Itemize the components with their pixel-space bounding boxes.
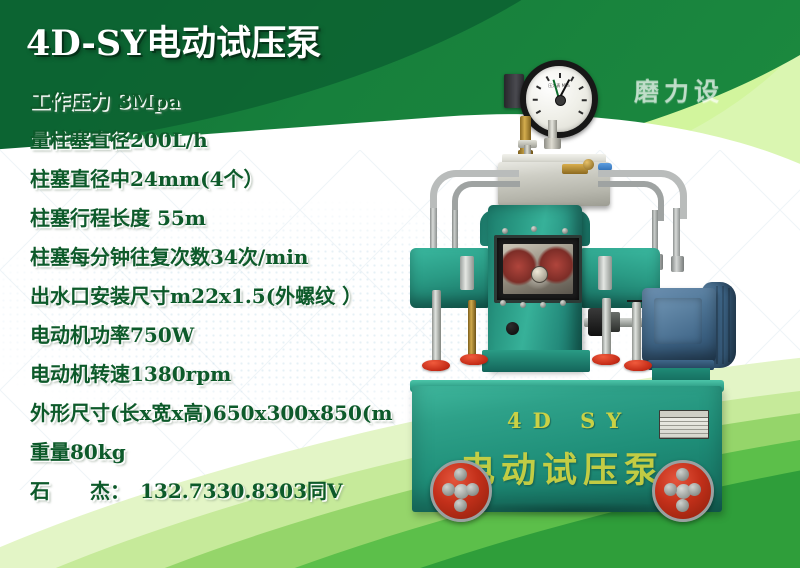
cylinder-plate-right — [598, 256, 612, 290]
spec-item-motor-speed: 电动机转速1380rpm — [30, 355, 490, 394]
gauge-dial: 压力表 MPa — [520, 60, 598, 138]
red-valve-cap-4 — [624, 360, 652, 371]
support-rod-right-2 — [632, 302, 641, 362]
gauge-hub — [555, 95, 566, 106]
spec-item-weight: 重量80kg — [30, 433, 490, 472]
red-valve-cap-3 — [592, 354, 620, 365]
spec-item-strokes-per-minute: 柱塞每分钟往复次数34次/min — [30, 238, 490, 277]
pump-drain-plug — [506, 322, 519, 335]
page-title: 4D-SY电动试压泵 — [26, 15, 321, 66]
gauge-nut — [544, 138, 561, 149]
pressure-gauge: 压力表 MPa — [520, 60, 598, 138]
nameplate — [659, 410, 709, 439]
pipe-fitting-right-2 — [671, 256, 684, 272]
wheel-right — [652, 460, 714, 522]
spec-item-motor-power: 电动机功率750W — [30, 316, 490, 355]
inspection-window-frame — [494, 235, 582, 303]
spec-item-dimensions: 外形尺寸(长x宽x高)650x300x850(m — [30, 394, 490, 433]
manifold-valve-knob — [583, 159, 594, 170]
spec-item-plunger-stroke: 柱塞行程长度 55m — [30, 199, 490, 238]
tank-model-text: 4D SY — [507, 408, 632, 433]
support-rod-right — [602, 298, 611, 362]
window-crank-center — [531, 266, 548, 283]
inspection-window-glass — [503, 244, 573, 294]
product-poster: 磨力设 4D-SY电动试压泵 压力表 MPa — [0, 0, 800, 568]
spec-item-flow-rate: 量柱塞直径200L/h — [30, 121, 490, 160]
spec-item-outlet-thread: 出水口安装尺寸m22x1.5(外螺纹 ） — [30, 277, 490, 316]
motor-terminal-box — [654, 298, 702, 344]
spec-item-plunger-diameter: 柱塞直径中24mm(4个） — [30, 160, 490, 199]
pump-base-plate — [482, 350, 590, 372]
spec-item-contact: 石 杰： 132.7330.8303同V — [30, 472, 490, 511]
spec-item-working-pressure: 工作压力 3Mpa — [30, 82, 490, 121]
specification-list: 工作压力 3Mpa 量柱塞直径200L/h 柱塞直径中24mm(4个） 柱塞行程… — [30, 82, 490, 511]
